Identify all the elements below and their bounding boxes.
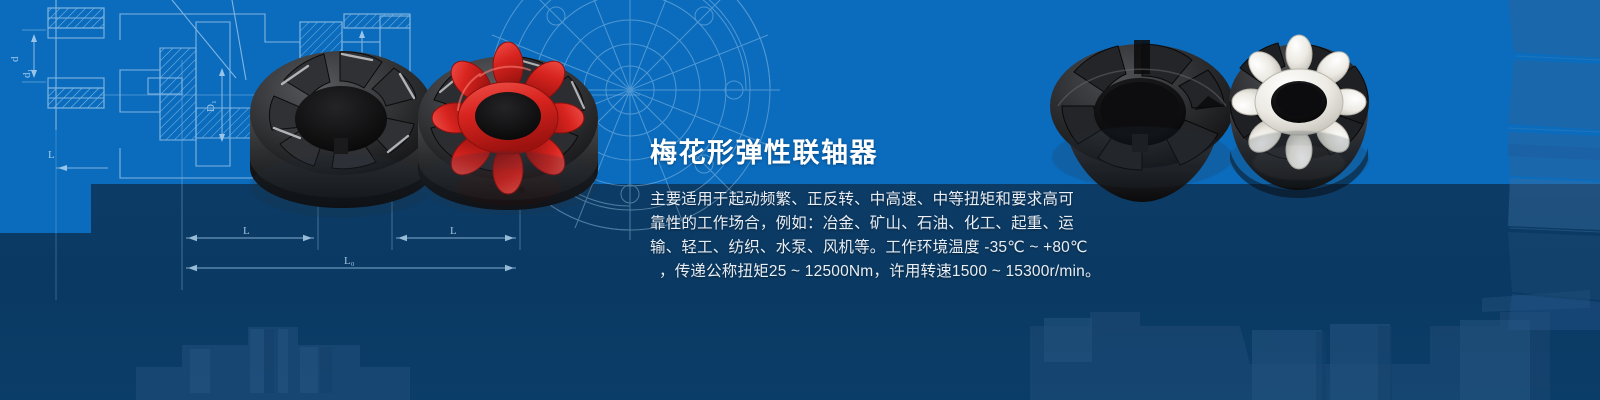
product-banner: d d₁ D₁ D L L L L₀ xyxy=(0,0,1600,400)
description-line-1: 主要适用于起动频繁、正反转、中高速、中等扭矩和要求高可 xyxy=(650,188,1070,212)
description-line-2: 靠性的工作场合，例如：冶金、矿山、石油、化工、起重、运 xyxy=(650,212,1070,236)
page-title: 梅花形弹性联轴器 xyxy=(650,134,1070,172)
banner-text-block: 梅花形弹性联轴器 主要适用于起动频繁、正反转、中高速、中等扭矩和要求高可 靠性的… xyxy=(650,134,1070,284)
banner-description: 主要适用于起动频繁、正反转、中高速、中等扭矩和要求高可 靠性的工作场合，例如：冶… xyxy=(650,188,1070,284)
description-line-3: 输、轻工、纺织、水泵、风机等。工作环境温度 -35℃ ~ +80℃ xyxy=(650,236,1070,260)
background-band-bright-step xyxy=(0,184,91,233)
description-line-4: ，传递公称扭矩25 ~ 12500Nm，许用转速1500 ~ 15300r/mi… xyxy=(650,260,1070,284)
